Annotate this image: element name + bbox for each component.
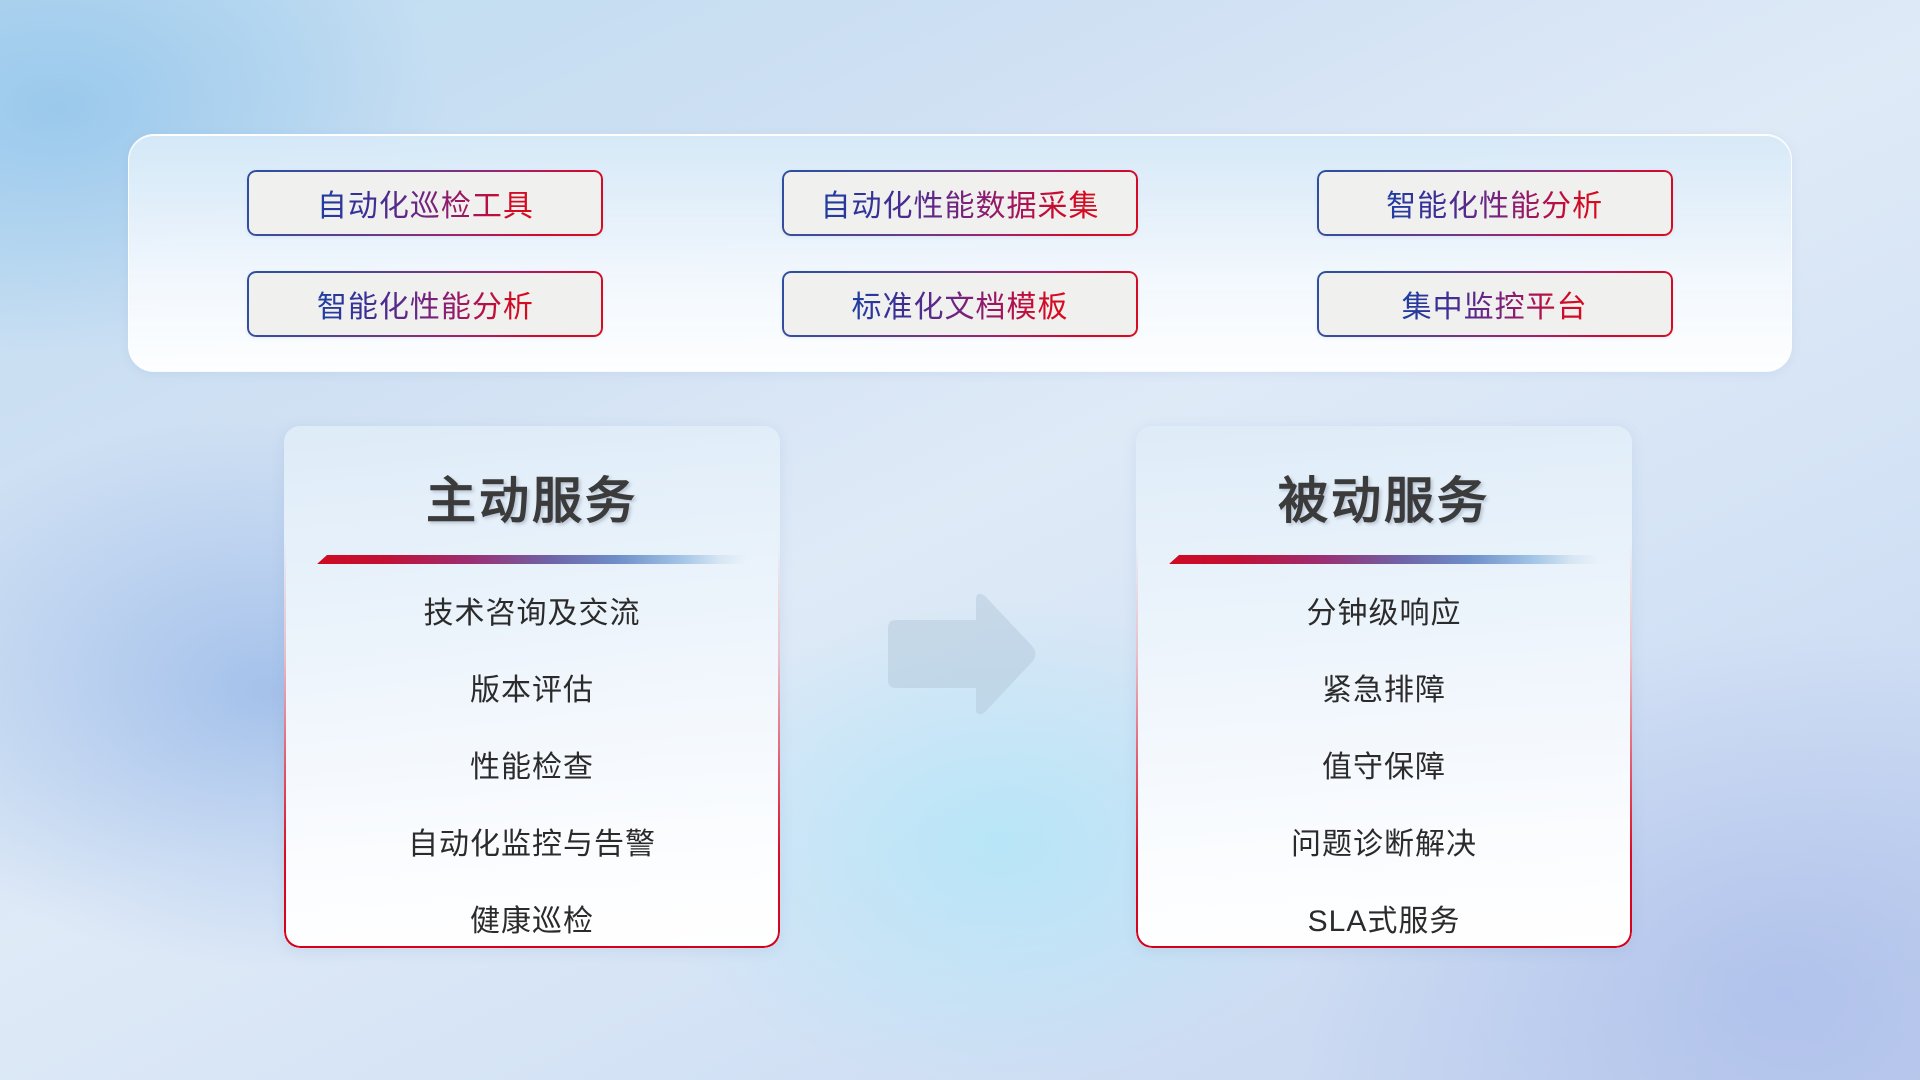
capability-pill-label: 自动化性能数据采集 — [820, 181, 1099, 225]
passive-service-card: 被动服务 分钟级响应 紧急排障 值守保障 问题诊断解决 SLA式服务 — [1136, 426, 1632, 948]
list-item: 版本评估 — [284, 676, 780, 706]
active-service-divider — [317, 555, 747, 565]
active-service-card: 主动服务 技术咨询及交流 版本评估 性能检查 自动化监控与告警 健康巡检 — [284, 426, 780, 948]
passive-service-list: 分钟级响应 紧急排障 值守保障 问题诊断解决 SLA式服务 — [1136, 565, 1632, 937]
capability-pill[interactable]: 智能化性能分析 — [247, 271, 603, 337]
capability-pill[interactable]: 自动化巡检工具 — [247, 170, 603, 236]
capability-pill[interactable]: 自动化性能数据采集 — [782, 170, 1138, 236]
list-item: 值守保障 — [1136, 753, 1632, 783]
list-item: 健康巡检 — [284, 907, 780, 937]
capability-pill[interactable]: 集中监控平台 — [1317, 271, 1673, 337]
list-item: 性能检查 — [284, 753, 780, 783]
list-item: 技术咨询及交流 — [284, 599, 780, 629]
capabilities-panel: 自动化巡检工具 自动化性能数据采集 智能化性能分析 智能化性能分析 标准化文档模… — [128, 134, 1792, 372]
active-service-list: 技术咨询及交流 版本评估 性能检查 自动化监控与告警 健康巡检 — [284, 565, 780, 937]
list-item: 分钟级响应 — [1136, 599, 1632, 629]
arrow-right-icon — [880, 586, 1040, 722]
passive-service-title: 被动服务 — [1136, 426, 1632, 533]
capability-pill-label: 自动化巡检工具 — [317, 181, 534, 225]
list-item: SLA式服务 — [1136, 907, 1632, 937]
passive-service-divider — [1169, 555, 1599, 565]
divider-bar — [1169, 555, 1599, 564]
list-item: 紧急排障 — [1136, 676, 1632, 706]
active-service-title: 主动服务 — [284, 426, 780, 533]
capability-pill-label: 智能化性能分析 — [1386, 181, 1603, 225]
list-item: 问题诊断解决 — [1136, 830, 1632, 860]
capability-pill[interactable]: 标准化文档模板 — [782, 271, 1138, 337]
list-item: 自动化监控与告警 — [284, 830, 780, 860]
capability-pill[interactable]: 智能化性能分析 — [1317, 170, 1673, 236]
slide-canvas: 自动化巡检工具 自动化性能数据采集 智能化性能分析 智能化性能分析 标准化文档模… — [0, 0, 1920, 1080]
capability-pill-label: 集中监控平台 — [1402, 282, 1588, 326]
capability-pill-label: 标准化文档模板 — [851, 282, 1068, 326]
divider-bar — [317, 555, 747, 564]
capability-pill-label: 智能化性能分析 — [317, 282, 534, 326]
capability-pill-grid: 自动化巡检工具 自动化性能数据采集 智能化性能分析 智能化性能分析 标准化文档模… — [129, 135, 1791, 371]
